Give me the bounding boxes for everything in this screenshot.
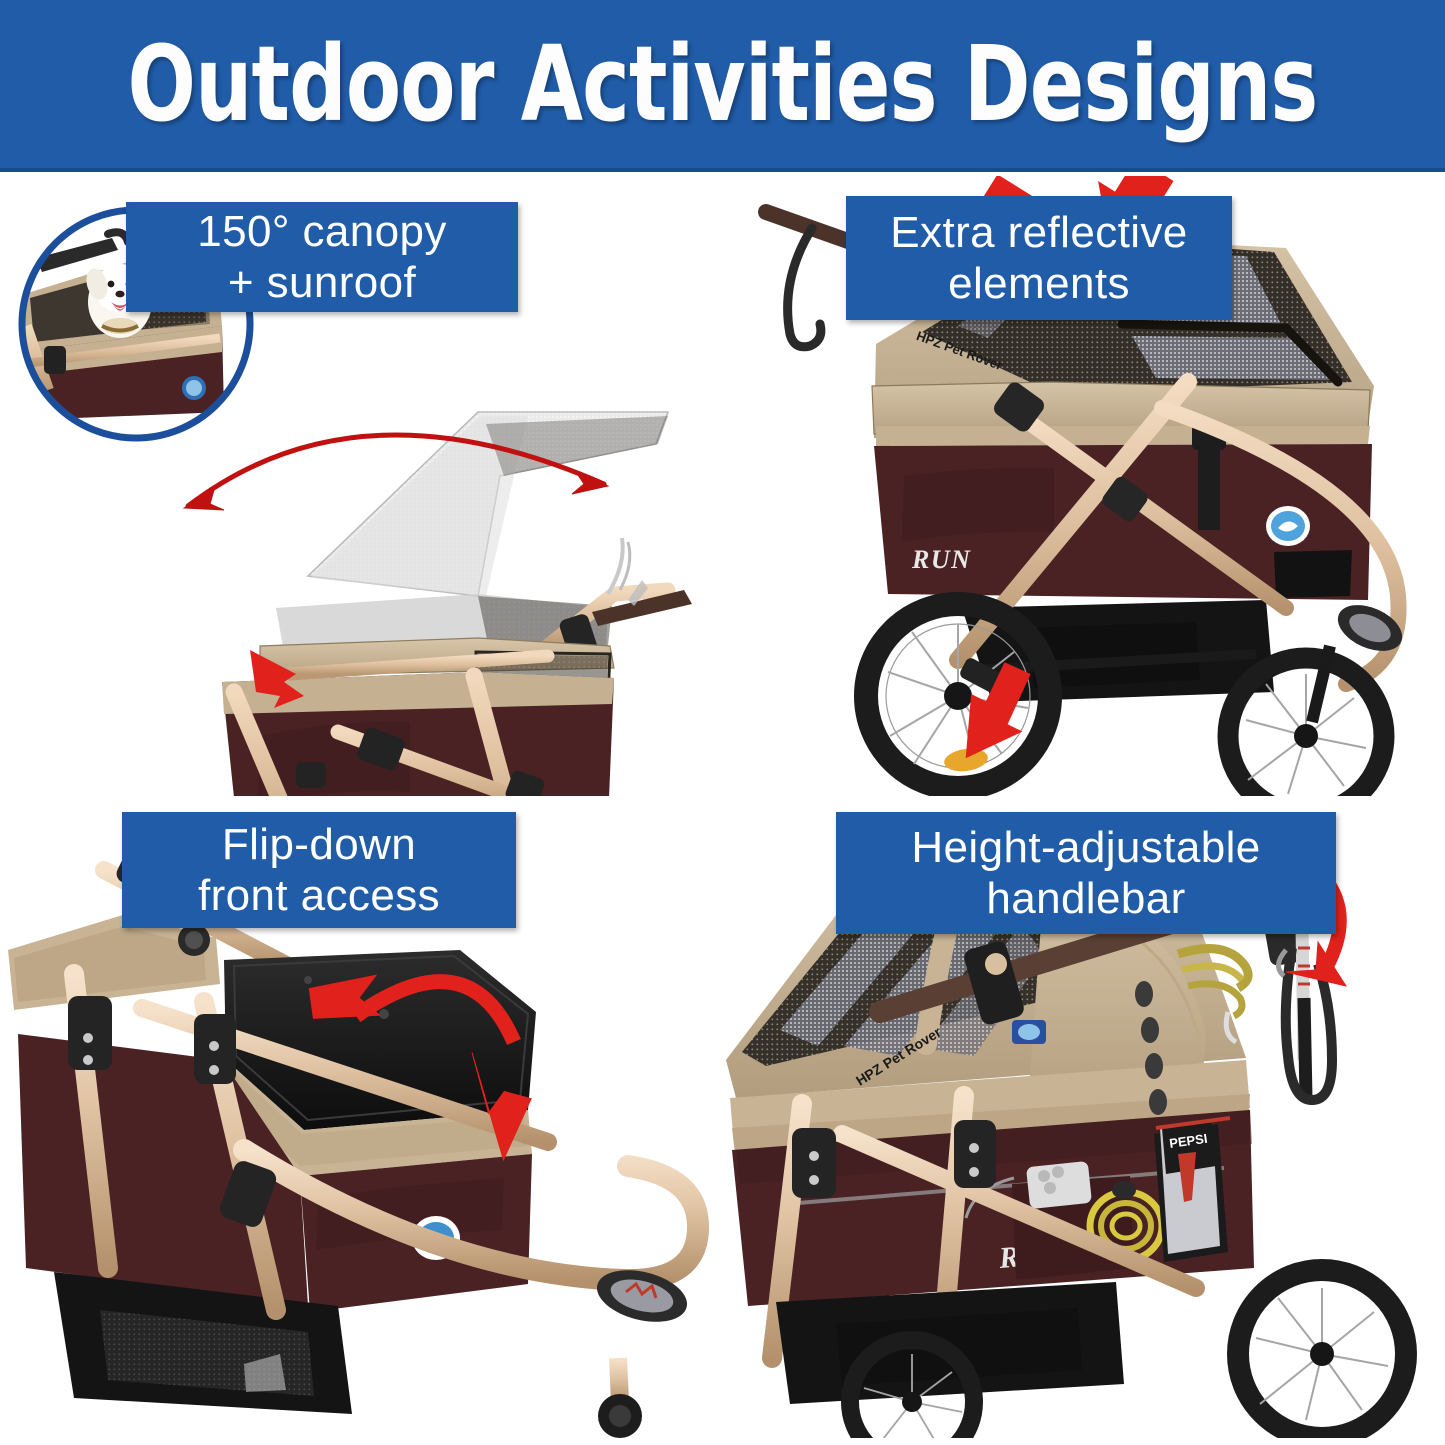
label-reflective-line1: Extra reflective	[890, 208, 1187, 257]
header-underline	[0, 168, 1445, 172]
label-front-access-line1: Flip-down	[222, 820, 416, 869]
panel-handlebar: HPZ Pet Rover	[726, 798, 1440, 1438]
panel-front-access: Flip-down front access	[8, 798, 722, 1438]
label-canopy: 150° canopy + sunroof	[126, 202, 518, 312]
stroller-canopy-view: HPZ Pet Rover RUN	[214, 412, 692, 796]
stroller-handlebar-view: HPZ Pet Rover	[726, 856, 1406, 1438]
rear-wheel-right	[1238, 1270, 1406, 1438]
label-handlebar-line2: handlebar	[986, 874, 1185, 923]
basket-brand-run: RUN	[911, 545, 971, 574]
label-handlebar: Height-adjustable handlebar	[836, 812, 1336, 934]
front-wheel-large	[1228, 646, 1384, 796]
label-front-access: Flip-down front access	[122, 812, 516, 928]
stroller-front-access-view	[8, 842, 698, 1438]
label-handlebar-line1: Height-adjustable	[911, 823, 1260, 872]
label-reflective-line2: elements	[948, 259, 1130, 308]
label-reflective: Extra reflective elements	[846, 196, 1232, 320]
label-canopy-line2: + sunroof	[228, 258, 416, 307]
infographic-page: Outdoor Activities Designs	[0, 0, 1445, 1445]
page-title: Outdoor Activities Designs	[101, 0, 1344, 168]
sunroof-mesh-panel	[308, 412, 668, 596]
panel-reflective: HPZ Pet Rover RUN	[726, 176, 1440, 796]
panel-canopy: HPZ Pet Rover RUN	[8, 176, 722, 796]
handlebar-adjust-post	[1298, 926, 1310, 1098]
label-canopy-line1: 150° canopy	[197, 207, 447, 256]
label-front-access-line2: front access	[198, 871, 440, 920]
